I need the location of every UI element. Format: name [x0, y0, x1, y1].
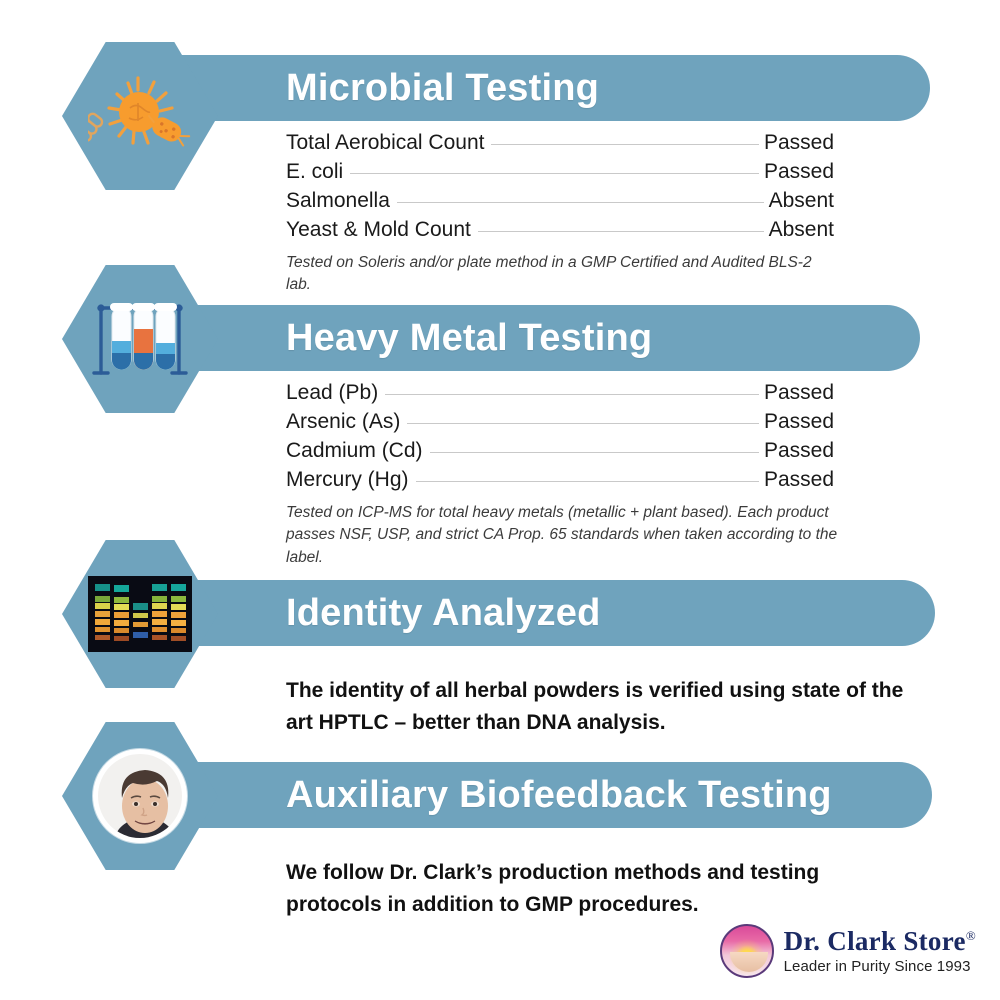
hex-badge-biofeedback	[62, 722, 218, 870]
row-result: Passed	[764, 131, 834, 155]
logo-tagline: Leader in Purity Since 1993	[784, 959, 976, 975]
row-label: E. coli	[286, 160, 343, 184]
table-row: E. coli Passed	[286, 160, 834, 189]
row-result: Passed	[764, 410, 834, 434]
row-label: Total Aerobical Count	[286, 131, 484, 155]
banner-title-heavy-metal: Heavy Metal Testing	[286, 317, 652, 360]
logo-text-block: Dr. Clark Store® Leader in Purity Since …	[784, 927, 976, 974]
row-result: Passed	[764, 160, 834, 184]
banner-title-microbial: Microbial Testing	[286, 67, 599, 110]
logo-brand-name-text: Dr. Clark Store	[784, 926, 966, 956]
table-row: Arsenic (As) Passed	[286, 410, 834, 439]
footnote-microbial: Tested on Soleris and/or plate method in…	[286, 252, 826, 297]
dna-gel-icon	[88, 576, 192, 652]
row-result: Passed	[764, 468, 834, 492]
hex-badge-identity	[62, 540, 218, 688]
row-result: Absent	[769, 218, 834, 242]
row-label: Mercury (Hg)	[286, 468, 409, 492]
portrait-photo	[93, 749, 187, 843]
leader-line	[491, 144, 758, 145]
results-list-heavy-metal: Lead (Pb) Passed Arsenic (As) Passed Cad…	[286, 381, 834, 497]
row-label: Cadmium (Cd)	[286, 439, 423, 463]
leader-line	[416, 481, 759, 482]
table-row: Cadmium (Cd) Passed	[286, 439, 834, 468]
banner-identity: Identity Analyzed	[150, 580, 935, 646]
leader-line	[350, 173, 759, 174]
table-row: Total Aerobical Count Passed	[286, 131, 834, 160]
row-result: Passed	[764, 381, 834, 405]
test-tubes-icon	[88, 293, 192, 385]
row-label: Yeast & Mold Count	[286, 218, 471, 242]
banner-biofeedback: Auxiliary Biofeedback Testing	[150, 762, 932, 828]
logo-brand-name: Dr. Clark Store®	[784, 927, 976, 955]
sunrise-hands-logo-icon	[720, 924, 774, 978]
hex-badge-heavy-metal	[62, 265, 218, 413]
body-identity: The identity of all herbal powders is ve…	[286, 675, 906, 739]
leader-line	[385, 394, 759, 395]
banner-heavy-metal: Heavy Metal Testing	[150, 305, 920, 371]
banner-title-identity: Identity Analyzed	[286, 592, 601, 635]
infographic-page: Microbial Testing	[0, 0, 1000, 1000]
leader-line	[478, 231, 764, 232]
row-label: Arsenic (As)	[286, 410, 400, 434]
row-result: Passed	[764, 439, 834, 463]
body-biofeedback: We follow Dr. Clark’s production methods…	[286, 857, 886, 921]
brand-logo[interactable]: Dr. Clark Store® Leader in Purity Since …	[720, 924, 976, 978]
results-list-microbial: Total Aerobical Count Passed E. coli Pas…	[286, 131, 834, 247]
banner-title-biofeedback: Auxiliary Biofeedback Testing	[286, 774, 832, 817]
table-row: Yeast & Mold Count Absent	[286, 218, 834, 247]
row-result: Absent	[769, 189, 834, 213]
leader-line	[397, 202, 764, 203]
microbe-icon	[88, 70, 192, 162]
banner-microbial: Microbial Testing	[150, 55, 930, 121]
table-row: Salmonella Absent	[286, 189, 834, 218]
registered-mark: ®	[966, 928, 976, 943]
row-label: Lead (Pb)	[286, 381, 378, 405]
footnote-heavy-metal: Tested on ICP-MS for total heavy metals …	[286, 502, 838, 569]
table-row: Mercury (Hg) Passed	[286, 468, 834, 497]
leader-line	[407, 423, 759, 424]
table-row: Lead (Pb) Passed	[286, 381, 834, 410]
leader-line	[430, 452, 759, 453]
row-label: Salmonella	[286, 189, 390, 213]
